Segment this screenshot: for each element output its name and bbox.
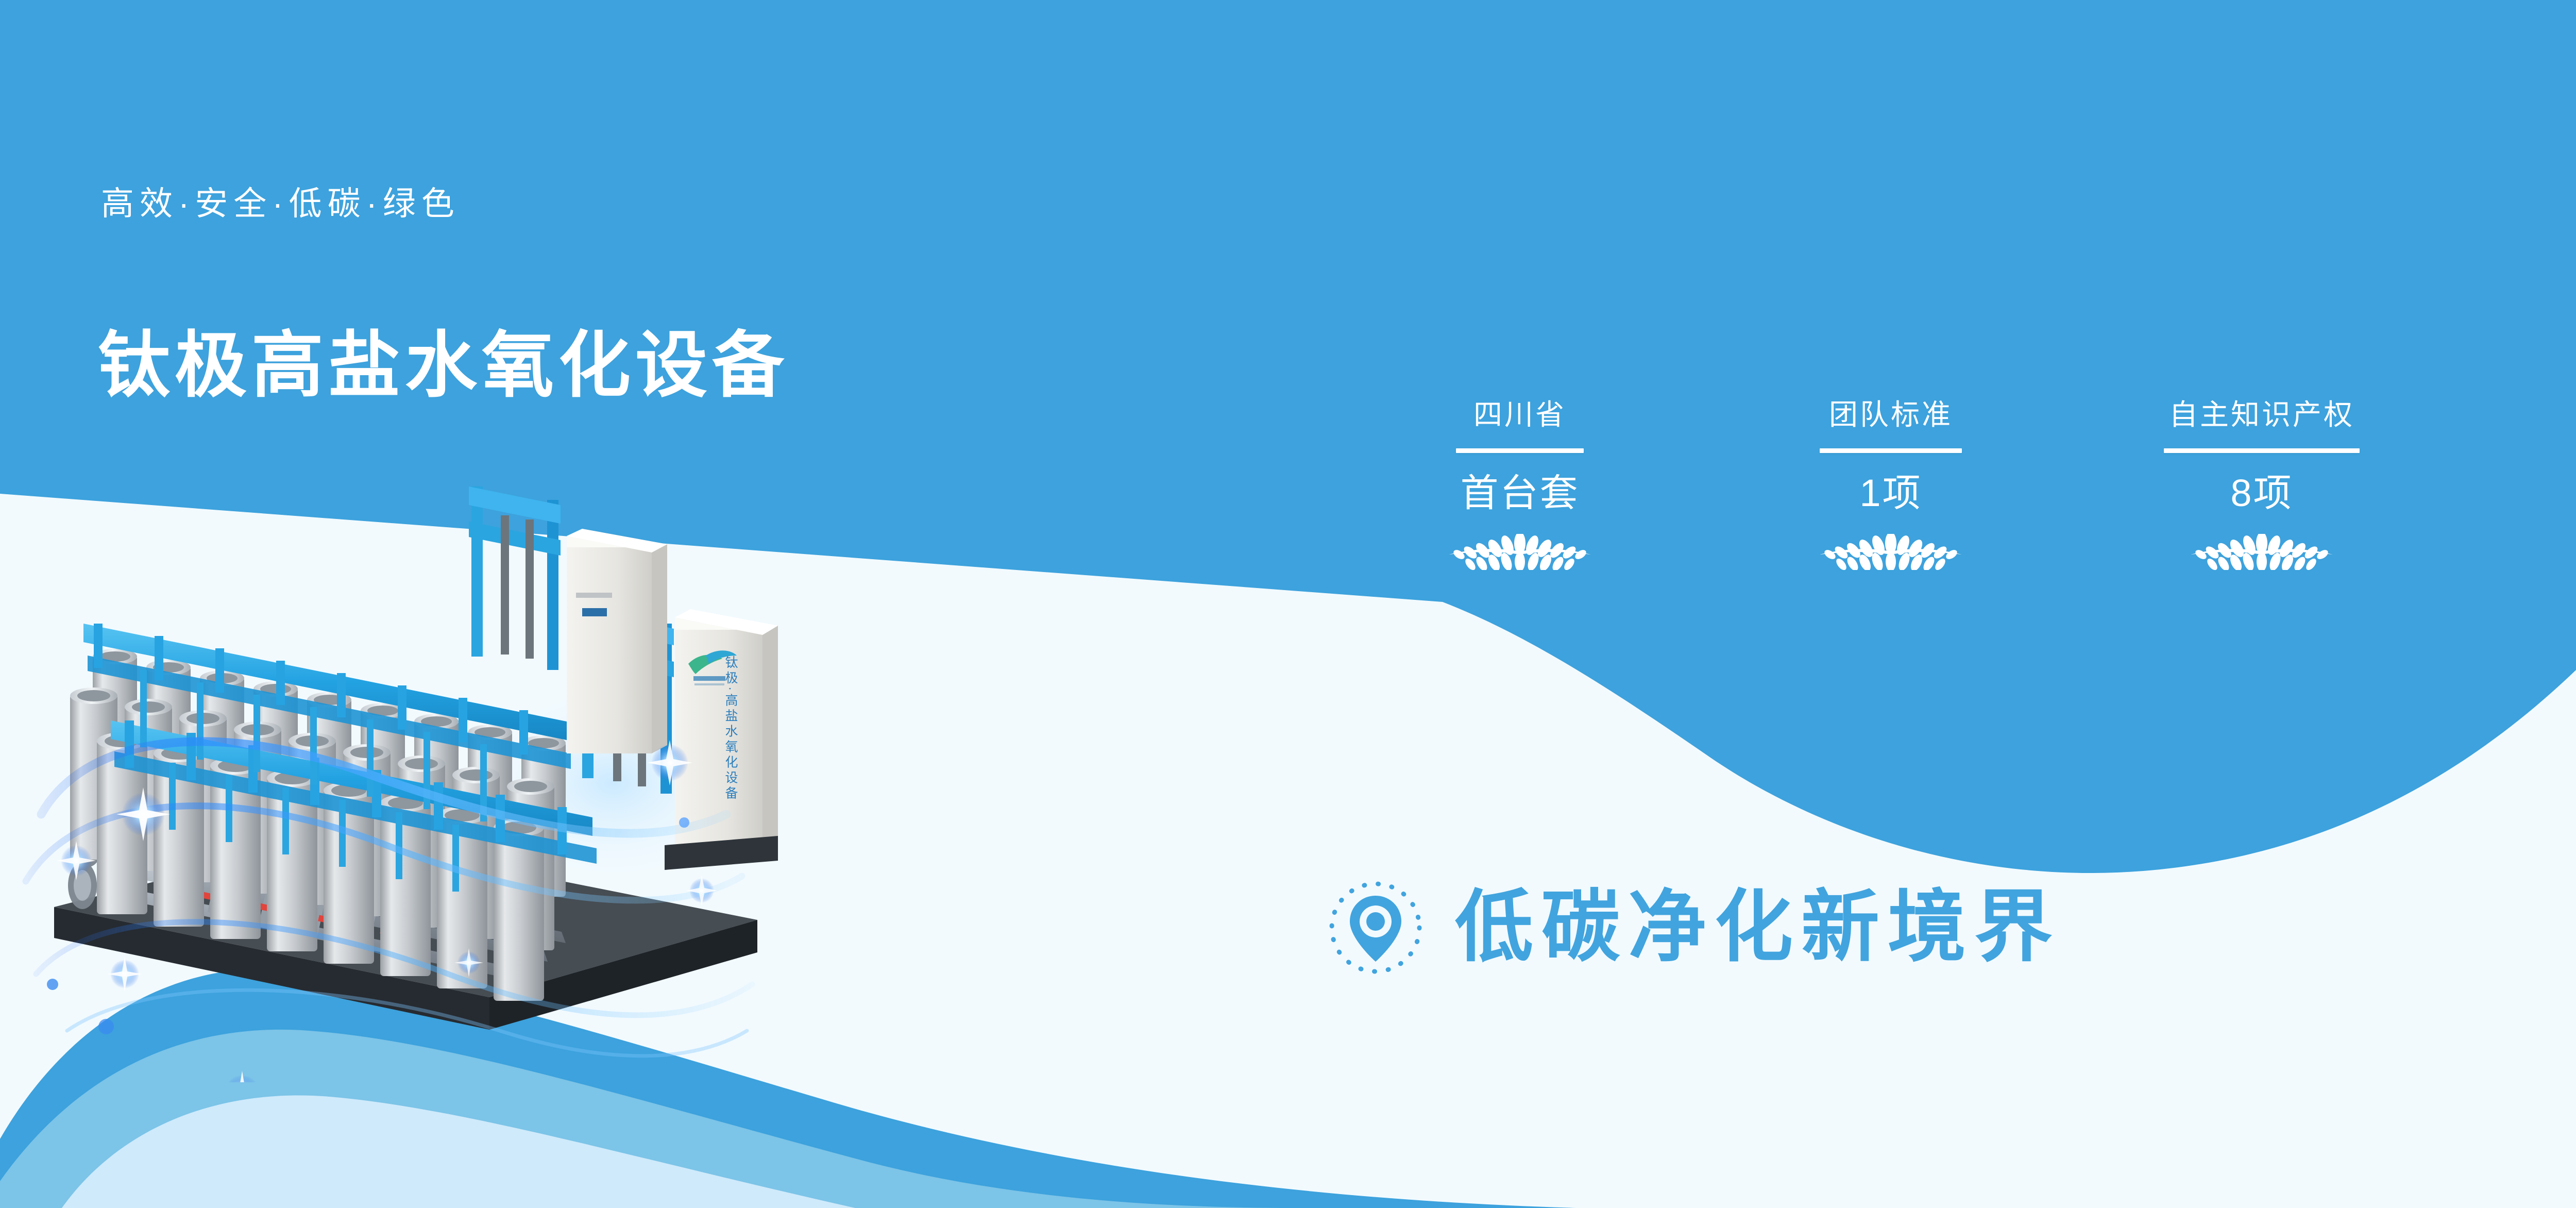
tagline-text: 低碳净化新境界: [1455, 884, 2061, 970]
portal-frame-back: [469, 486, 561, 670]
stat-divider: [1456, 448, 1584, 453]
stat-divider: [2164, 448, 2360, 453]
product-render: 钛极·高盐水氧化设备: [5, 454, 871, 1082]
tagline-block: 低碳净化新境界: [1324, 876, 2061, 979]
product-banner: 钛极·高盐水氧化设备: [0, 0, 2576, 1208]
stat-block: 自主知识产权 8项: [2102, 397, 2421, 570]
stat-label: 四川省: [1473, 397, 1566, 433]
location-pin-icon: [1324, 876, 1427, 979]
control-cabinet-back: [567, 529, 667, 753]
stat-label: 自主知识产权: [2169, 397, 2354, 433]
stats-row: 四川省 首台套: [1360, 397, 2421, 685]
laurel-ornament-icon: [2184, 534, 2339, 570]
cabinet-label-text: 钛极·高盐水氧化设备: [723, 656, 738, 801]
stat-value: 首台套: [1461, 471, 1580, 516]
hero-eyebrow: 高效·安全·低碳·绿色: [101, 186, 460, 222]
page-title: 钛极高盐水氧化设备: [98, 322, 789, 410]
stat-value: 8项: [2230, 471, 2293, 516]
stat-block: 团队标准 1项: [1731, 397, 2050, 570]
stat-label: 团队标准: [1829, 397, 1953, 433]
laurel-ornament: [2184, 534, 2339, 570]
laurel-ornament: [1443, 534, 1597, 570]
stat-divider: [1820, 448, 1962, 453]
laurel-ornament-icon: [1814, 534, 1968, 570]
location-pin-svg: [1324, 876, 1427, 979]
stat-block: 四川省 首台套: [1360, 397, 1680, 570]
pin-dot: [1366, 912, 1385, 931]
laurel-ornament-icon: [1443, 534, 1597, 570]
laurel-ornament: [1814, 534, 1968, 570]
product-illustration: 钛极·高盐水氧化设备: [5, 454, 871, 1082]
stat-value: 1项: [1859, 471, 1922, 516]
